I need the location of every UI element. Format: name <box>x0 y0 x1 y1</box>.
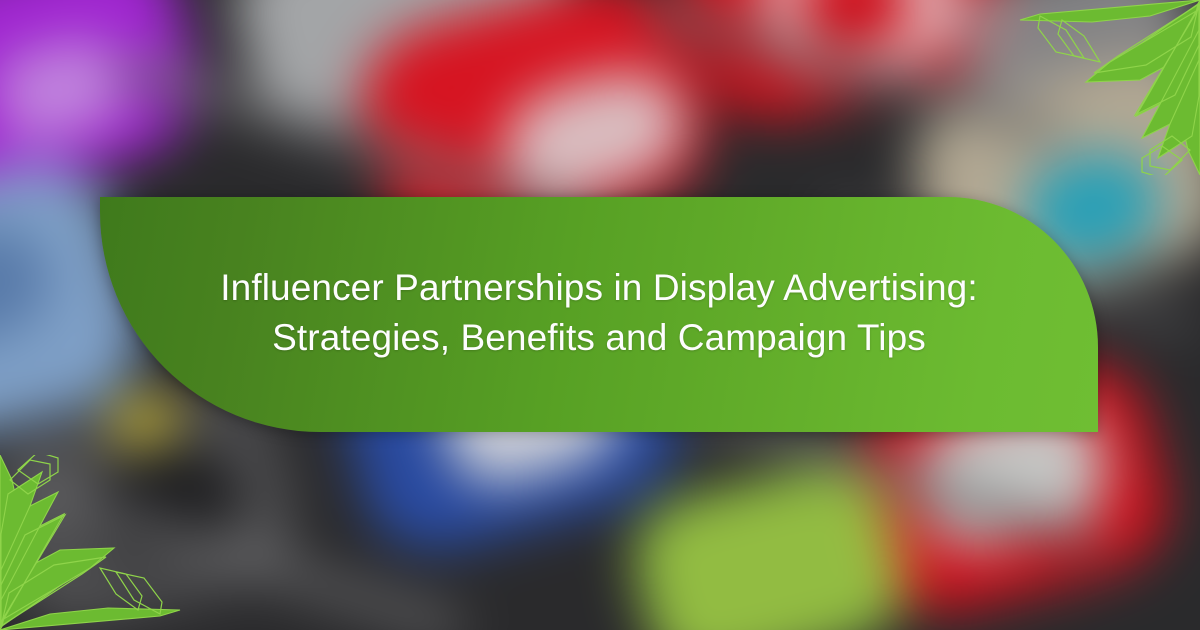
leaf-corner-ornament-top-right <box>1000 0 1200 175</box>
share-card-canvas: Influencer Partnerships in Display Adver… <box>0 0 1200 630</box>
title-banner: Influencer Partnerships in Display Adver… <box>100 197 1098 432</box>
page-title: Influencer Partnerships in Display Adver… <box>204 263 994 365</box>
leaf-corner-ornament-bottom-left <box>0 455 200 630</box>
